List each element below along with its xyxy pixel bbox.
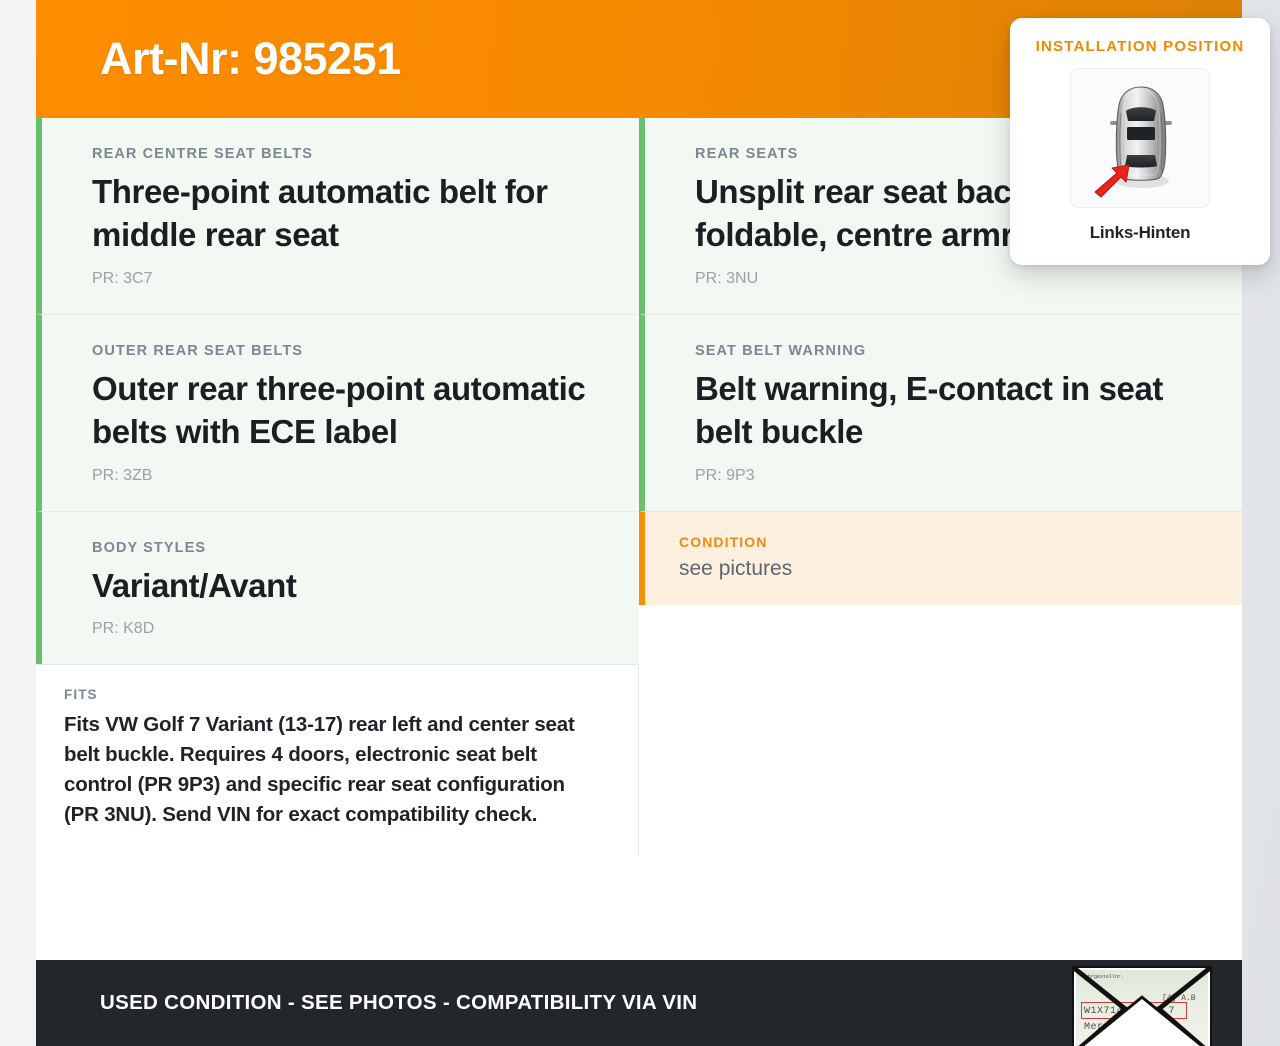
- condition-card[interactable]: CONDITION see pictures: [639, 511, 1242, 605]
- spec-title: Outer rear three-point automatic belts w…: [92, 368, 602, 454]
- installation-position-title: INSTALLATION POSITION: [1010, 38, 1270, 55]
- fits-label: FITS: [64, 687, 598, 702]
- footer-text: USED CONDITION - SEE PHOTOS - COMPATIBIL…: [36, 991, 697, 1015]
- spec-label: REAR CENTRE SEAT BELTS: [92, 146, 639, 162]
- spec-label: BODY STYLES: [92, 540, 639, 556]
- installation-position-card[interactable]: INSTALLATION POSITION: [1010, 18, 1270, 265]
- left-column: REAR CENTRE SEAT BELTS Three-point autom…: [36, 118, 639, 855]
- spec-pr-code: PR: 9P3: [695, 467, 1242, 485]
- condition-value: see pictures: [679, 557, 1242, 581]
- car-diagram-svg: [1071, 69, 1211, 209]
- envelope-flap-icon: [1074, 968, 1210, 1046]
- spec-title: Three-point automatic belt for middle re…: [92, 171, 602, 257]
- spec-pr-code: PR: 3NU: [695, 270, 1242, 288]
- page-title: Art-Nr: 985251: [36, 33, 401, 85]
- fits-text: Fits VW Golf 7 Variant (13-17) rear left…: [64, 710, 598, 829]
- spec-card-seat-belt-warning[interactable]: SEAT BELT WARNING Belt warning, E-contac…: [639, 314, 1242, 511]
- spec-card-rear-centre-seat-belts[interactable]: REAR CENTRE SEAT BELTS Three-point autom…: [36, 118, 639, 314]
- spec-label: OUTER REAR SEAT BELTS: [92, 343, 639, 359]
- footer-bar: USED CONDITION - SEE PHOTOS - COMPATIBIL…: [36, 960, 1242, 1046]
- installation-position-caption: Links-Hinten: [1010, 223, 1270, 243]
- spec-title: Variant/Avant: [92, 565, 602, 608]
- spec-pr-code: PR: 3C7: [92, 270, 639, 288]
- spec-card-outer-rear-seat-belts[interactable]: OUTER REAR SEAT BELTS Outer rear three-p…: [36, 314, 639, 511]
- car-top-view-icon: [1070, 68, 1210, 208]
- condition-label: CONDITION: [679, 534, 1242, 550]
- spec-label: SEAT BELT WARNING: [695, 343, 1242, 359]
- spec-title: Belt warning, E-contact in seat belt buc…: [695, 368, 1205, 454]
- spec-card-body-styles[interactable]: BODY STYLES Variant/Avant PR: K8D: [36, 511, 639, 665]
- envelope-vin-document-icon[interactable]: Fahrgestellnr. [4] A.B W1X71463J31R 7 Me…: [1072, 966, 1212, 1046]
- spec-pr-code: PR: 3ZB: [92, 467, 639, 485]
- fits-block: FITS Fits VW Golf 7 Variant (13-17) rear…: [36, 664, 639, 855]
- spec-pr-code: PR: K8D: [92, 620, 639, 638]
